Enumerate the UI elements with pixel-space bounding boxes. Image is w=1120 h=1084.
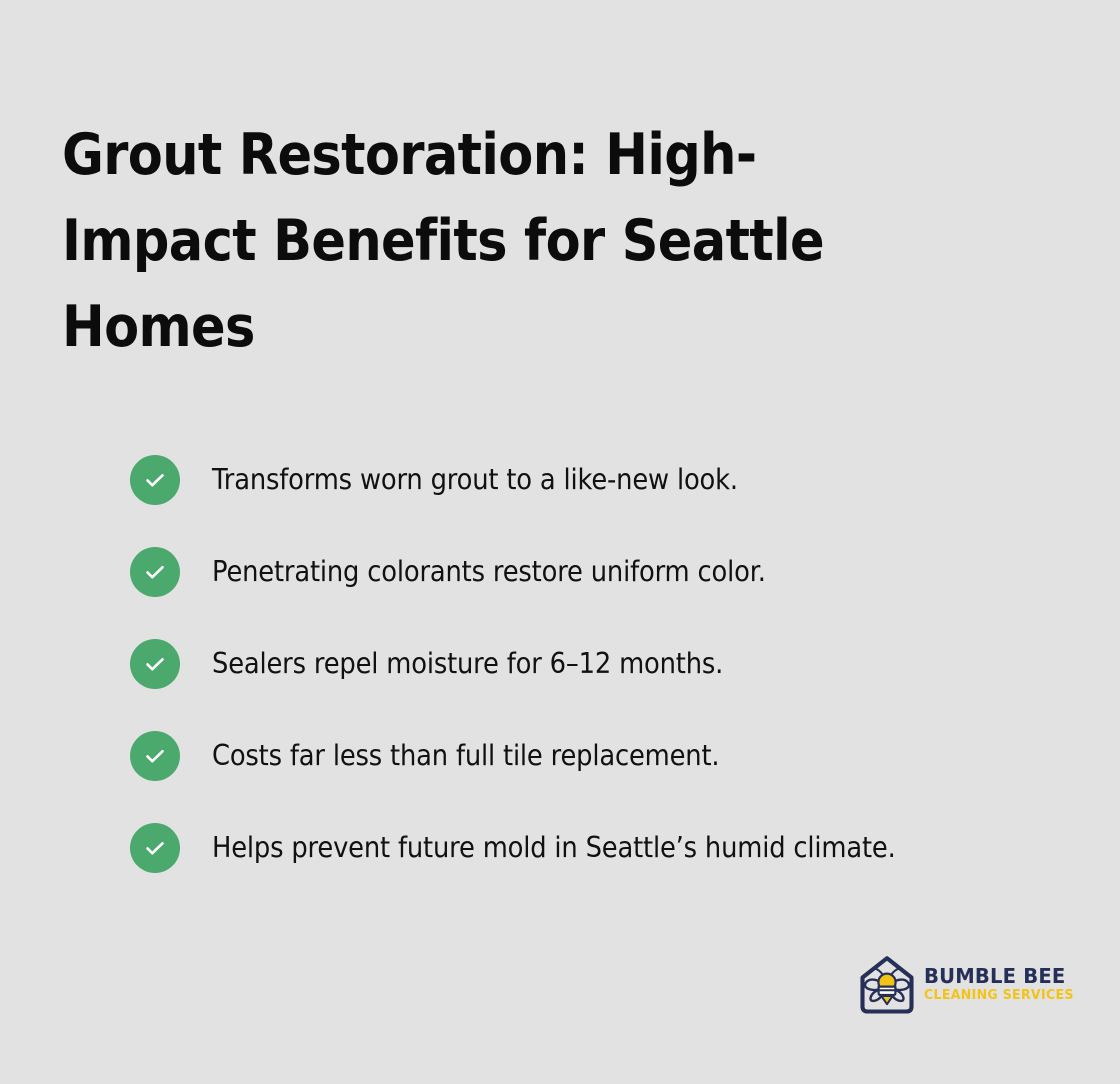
list-item-label: Sealers repel moisture for 6–12 months. bbox=[212, 637, 970, 691]
list-item: Costs far less than full tile replacemen… bbox=[130, 729, 1050, 821]
list-item: Helps prevent future mold in Seattle’s h… bbox=[130, 821, 1050, 913]
list-item-label: Penetrating colorants restore uniform co… bbox=[212, 545, 970, 599]
infographic-canvas: Grout Restoration: High-Impact Benefits … bbox=[0, 0, 1120, 1084]
check-circle-icon bbox=[130, 547, 180, 597]
check-circle-icon bbox=[130, 455, 180, 505]
list-item-label: Helps prevent future mold in Seattle’s h… bbox=[212, 821, 970, 875]
logo-tagline: CLEANING SERVICES bbox=[924, 988, 1051, 1004]
list-item-label: Costs far less than full tile replacemen… bbox=[212, 729, 970, 783]
logo-wordmark: BUMBLE BEE CLEANING SERVICES bbox=[924, 965, 1058, 1004]
benefits-list: Transforms worn grout to a like-new look… bbox=[130, 453, 1050, 913]
check-circle-icon bbox=[130, 639, 180, 689]
list-item-label: Transforms worn grout to a like-new look… bbox=[212, 453, 970, 507]
list-item: Sealers repel moisture for 6–12 months. bbox=[130, 637, 1050, 729]
brand-logo: BUMBLE BEE CLEANING SERVICES bbox=[852, 950, 1058, 1020]
check-circle-icon bbox=[130, 731, 180, 781]
list-item: Penetrating colorants restore uniform co… bbox=[130, 545, 1050, 637]
check-circle-icon bbox=[130, 823, 180, 873]
bumble-bee-house-icon bbox=[852, 950, 922, 1020]
page-title: Grout Restoration: High-Impact Benefits … bbox=[62, 112, 850, 370]
list-item: Transforms worn grout to a like-new look… bbox=[130, 453, 1050, 545]
logo-brand-name: BUMBLE BEE bbox=[924, 965, 1052, 987]
